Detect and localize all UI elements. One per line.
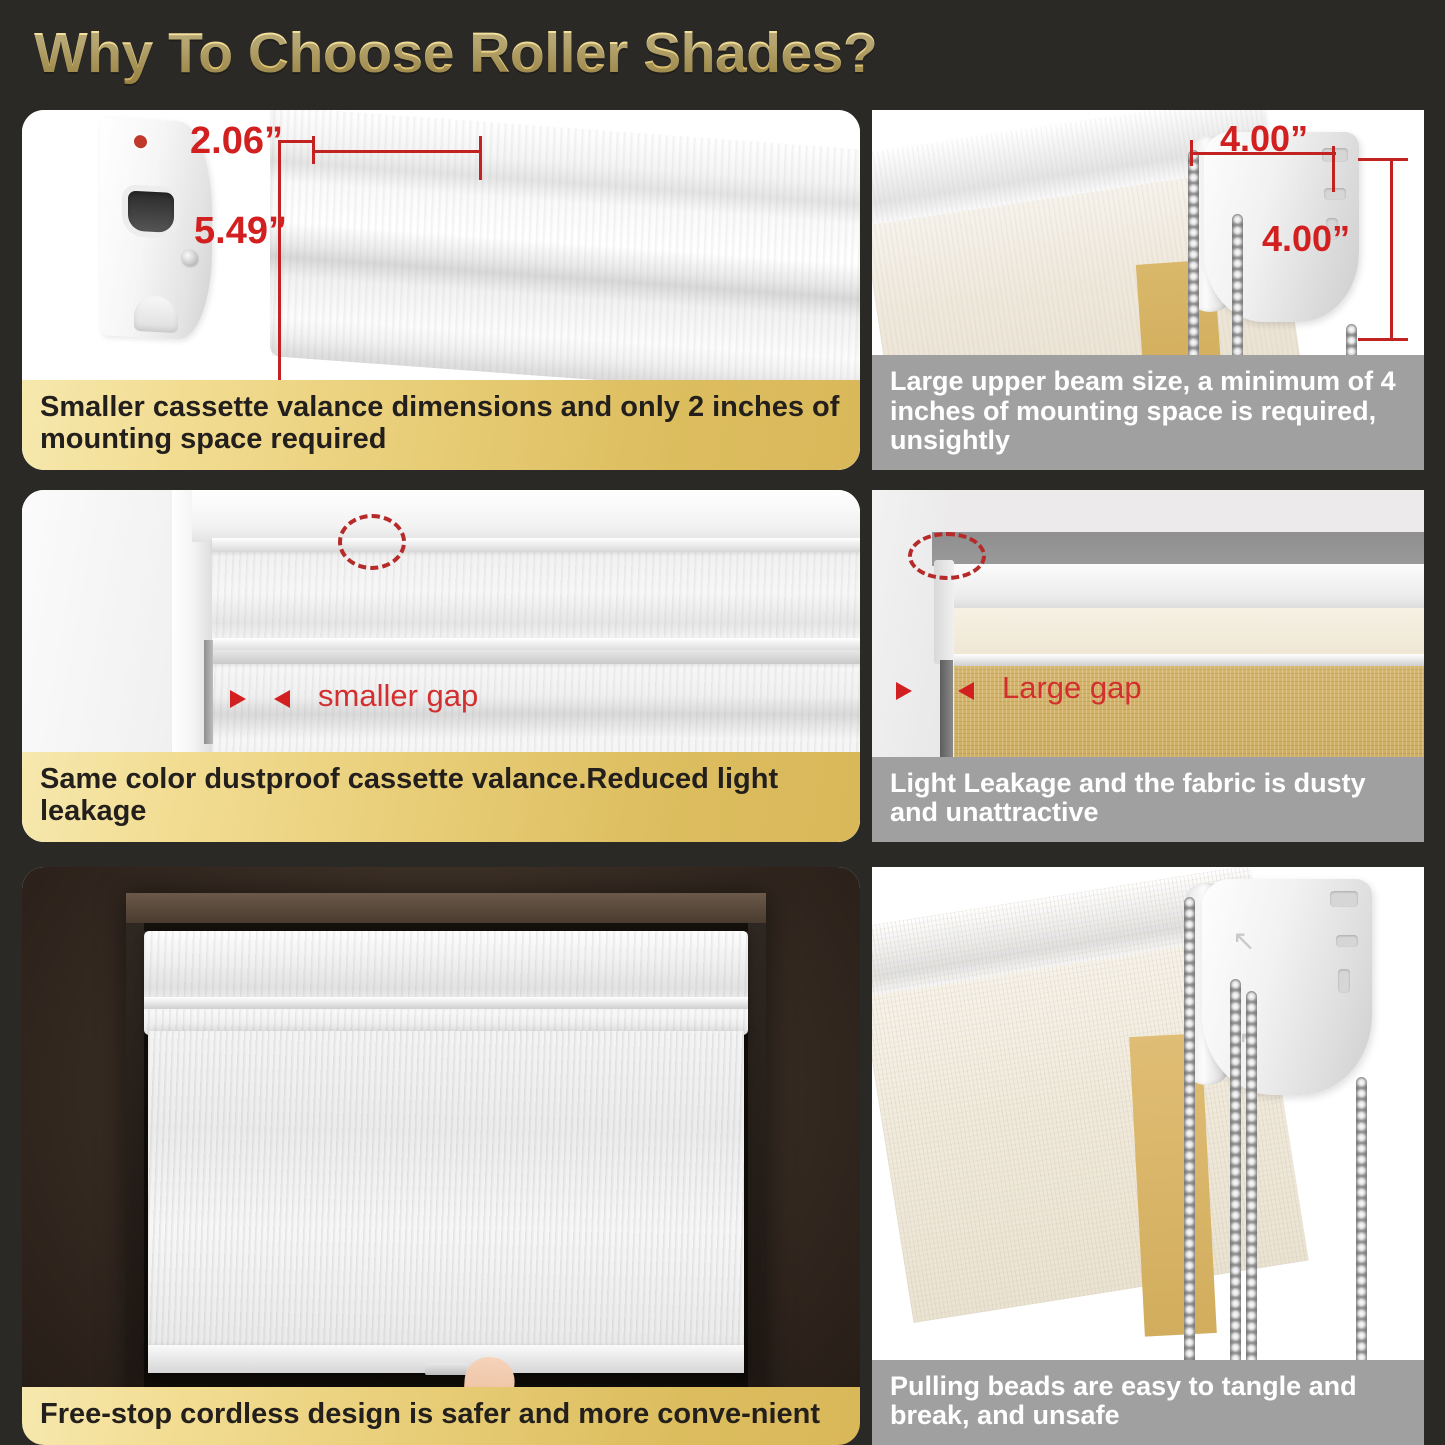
dim-width-tick-left [1190,140,1193,166]
dim-height-tick-top [1358,158,1408,161]
gap-arrow-left-icon [896,682,912,700]
endcap-slot-art [128,191,174,233]
pull-tab-art [425,1363,467,1375]
dim-width-tick-right [1332,146,1335,192]
endcap-knob-art [134,295,178,333]
infographic-root: Why To Choose Roller Shades? [0,0,1445,1445]
shade-fabric-art [148,1031,744,1361]
cassette-valance-art [144,931,748,1035]
dim-top-tick-left [278,140,314,143]
panel-good-dimensions: 5.49” 2.06” Smaller cassette valance dim… [22,110,860,470]
large-gap-label: Large gap [1002,670,1142,706]
valance-lip-art [954,654,1424,666]
panel-row-1: 5.49” 2.06” Smaller cassette valance dim… [0,110,1445,478]
panel-bad-dimensions: 4.00” 4.00” Large upper beam size, a min… [872,110,1424,470]
measure-origin-dot [134,135,147,149]
gap-shadow-art [204,640,213,744]
height-dimension-label: 5.49” [194,210,287,253]
gap-arrow-right-icon [274,690,290,708]
panel-bad-gap: Large gap Light Leakage and the fabric i… [872,490,1424,842]
caption-good-cordless: Free-stop cordless design is safer and m… [22,1387,860,1445]
panel-grid: 5.49” 2.06” Smaller cassette valance dim… [0,110,1445,1445]
panel-row-3: Free-stop cordless design is safer and m… [0,867,1445,1445]
cordless-room-photo [22,867,860,1445]
bead-chain-photo: ↖ ↖ [872,867,1424,1445]
gray-valance-top-art [932,532,1424,566]
panel-good-cordless: Free-stop cordless design is safer and m… [22,867,860,1445]
dim-width-tick-right [479,136,482,180]
frame-header-art [192,490,860,542]
caption-bad-gap: Light Leakage and the fabric is dusty an… [872,757,1424,842]
window-reveal-art [126,893,766,1445]
beam-width-label: 4.00” [1220,118,1308,160]
page-title: Why To Choose Roller Shades? [34,20,877,86]
width-dimension-label: 2.06” [190,120,283,163]
cream-band-art [954,608,1424,656]
caption-bad-beads: Pulling beads are easy to tangle and bre… [872,1360,1424,1445]
smaller-gap-label: smaller gap [318,678,478,714]
bead-chain-front [1184,897,1195,1427]
valance-face-art [948,564,1424,610]
caption-good-dimensions: Smaller cassette valance dimensions and … [22,380,860,470]
mounting-bracket-art: ↖ ↖ [1202,879,1372,1095]
dim-height-line [1390,158,1393,340]
panel-bad-beads: ↖ ↖ Pulling beads are easy to tangle and… [872,867,1424,1445]
dim-width-line [312,150,482,153]
valance-body-art [270,110,860,400]
dim-height-tick-bottom [1358,338,1408,341]
beam-height-label: 4.00” [1262,218,1350,260]
caption-bad-dimensions: Large upper beam size, a minimum of 4 in… [872,355,1424,470]
gap-arrow-right-icon [958,682,974,700]
panel-good-gap: smaller gap Same color dustproof cassett… [22,490,860,842]
dim-width-tick-left [312,136,315,164]
detail-circle-icon [908,532,986,580]
panel-row-2: smaller gap Same color dustproof cassett… [0,490,1445,855]
gap-arrow-left-icon [230,690,246,708]
caption-good-gap: Same color dustproof cassette valance.Re… [22,752,860,842]
detail-circle-icon [338,514,406,570]
